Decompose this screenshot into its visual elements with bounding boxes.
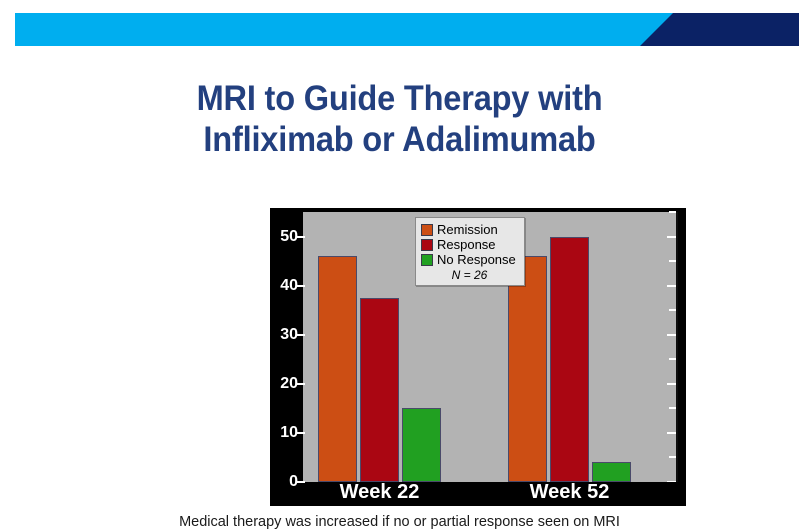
x-axis-band: Week 22Week 52 [270, 482, 686, 506]
y-axis-minor-tick-right [669, 456, 676, 458]
bar-remission-week-52 [508, 256, 547, 482]
y-axis-major-tick-right [667, 432, 676, 434]
y-axis-tick-label: 10 [270, 424, 298, 442]
bar-chart-figure: Week 22Week 52 Remission Response No Res… [270, 208, 686, 506]
y-axis-major-tick [296, 285, 305, 287]
legend-label-response: Response [437, 238, 496, 251]
x-axis-group-label: Week 52 [488, 481, 651, 504]
y-axis-minor-tick-right [669, 309, 676, 311]
legend-sample-size: N = 26 [421, 268, 518, 282]
legend-swatch-no-response [421, 254, 433, 266]
y-axis-major-tick [296, 432, 305, 434]
y-axis-major-tick-right [667, 236, 676, 238]
banner-light-stripe [15, 13, 690, 46]
legend-label-remission: Remission [437, 223, 498, 236]
bar-no-response-week-52 [592, 462, 631, 482]
bar-no-response-week-22 [402, 408, 441, 482]
legend-swatch-remission [421, 224, 433, 236]
page-title-line-2: Infliximab or Adalimumab [28, 119, 771, 160]
y-axis-minor-tick-right [669, 358, 676, 360]
y-axis-minor-tick-right [669, 407, 676, 409]
y-axis-major-tick [296, 334, 305, 336]
y-axis-major-tick [296, 383, 305, 385]
y-axis-tick-label: 30 [270, 326, 298, 344]
y-axis-major-tick-right [667, 285, 676, 287]
y-axis-minor-tick-right [669, 260, 676, 262]
y-axis-major-tick-right [667, 383, 676, 385]
y-axis-major-tick-right [667, 334, 676, 336]
y-axis-major-tick [296, 481, 305, 483]
x-axis-group-label: Week 22 [298, 481, 461, 504]
y-axis-tick-label: 50 [270, 228, 298, 246]
y-axis-minor-tick-right [669, 211, 676, 213]
legend-label-no-response: No Response [437, 253, 516, 266]
legend-item-remission: Remission [421, 222, 518, 237]
chart-legend: Remission Response No Response N = 26 [415, 217, 525, 286]
legend-item-response: Response [421, 237, 518, 252]
bar-remission-week-22 [318, 256, 357, 482]
legend-item-no-response: No Response [421, 252, 518, 267]
y-axis-tick-label: 0 [270, 473, 298, 491]
page-title: MRI to Guide Therapy with Infliximab or … [0, 78, 799, 160]
page-title-line-1: MRI to Guide Therapy with [28, 78, 771, 119]
header-banner [0, 0, 799, 60]
y-axis-major-tick [296, 236, 305, 238]
bar-response-week-52 [550, 237, 589, 482]
figure-caption: Medical therapy was increased if no or p… [0, 514, 799, 530]
legend-swatch-response [421, 239, 433, 251]
y-axis-tick-label: 40 [270, 277, 298, 295]
y-axis-tick-label: 20 [270, 375, 298, 393]
bar-response-week-22 [360, 298, 399, 482]
